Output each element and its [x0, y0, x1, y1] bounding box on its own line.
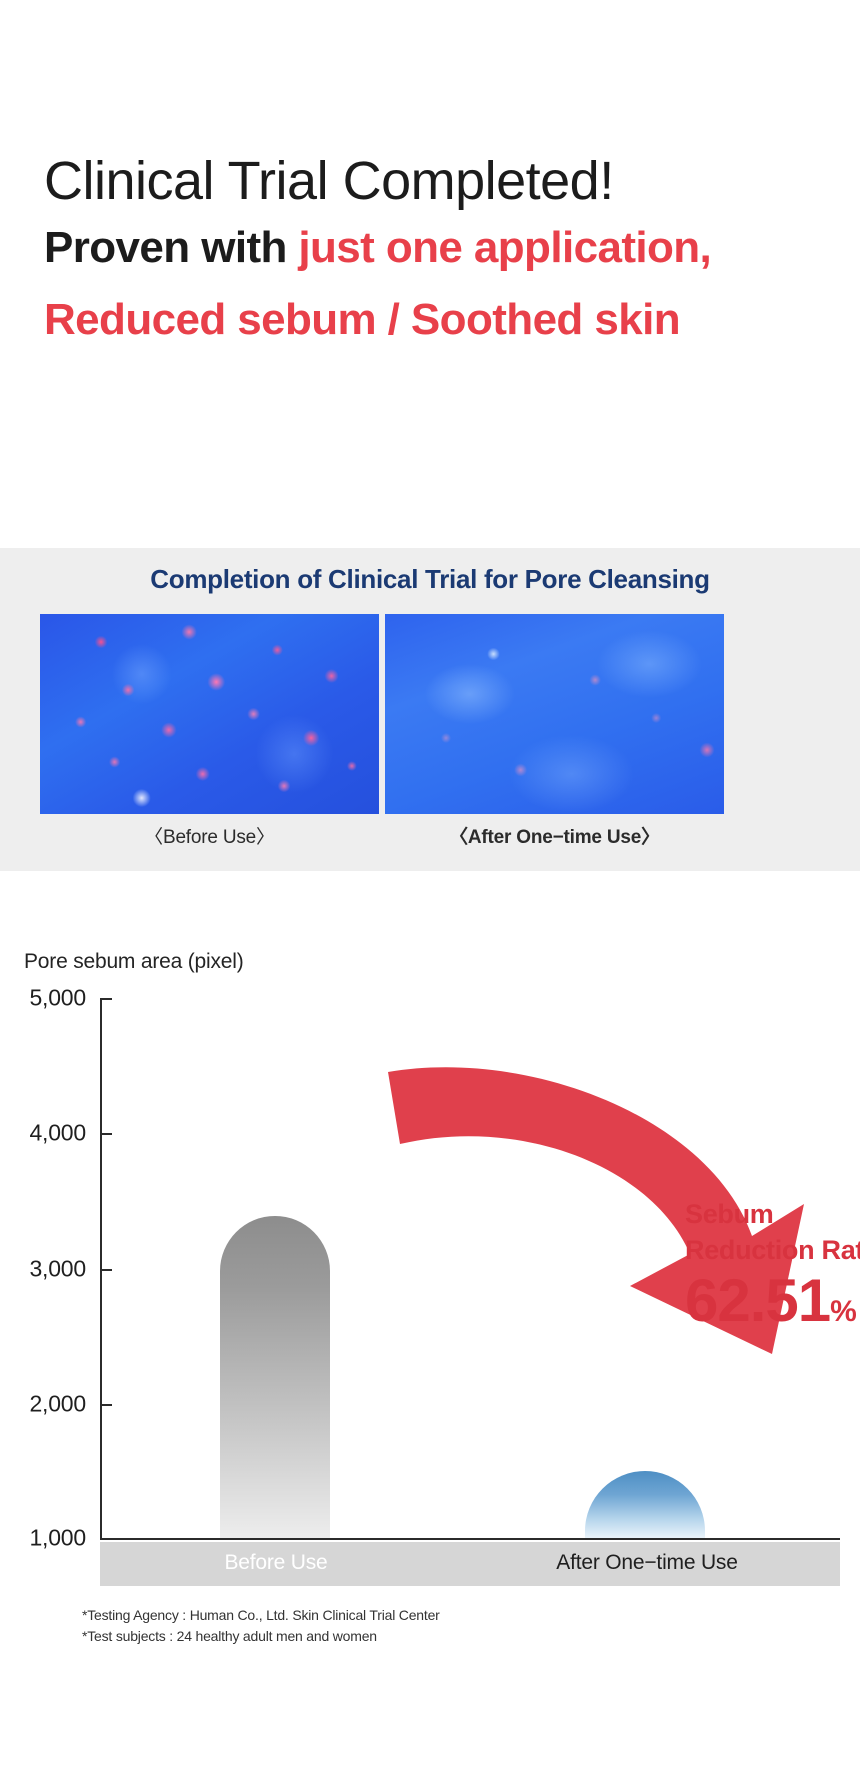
chart-y-tick-mark	[100, 1538, 112, 1540]
chart-category-label-after: After One−time Use	[482, 1551, 812, 1575]
chart-x-axis-line	[100, 1538, 840, 1540]
chart-footnotes: *Testing Agency : Human Co., Ltd. Skin C…	[82, 1605, 440, 1647]
sebum-reduction-callout: Sebum Reduction Rate 62.51%	[685, 1196, 860, 1348]
chart-y-axis-title: Pore sebum area (pixel)	[24, 950, 244, 974]
chart-bar-before-use	[220, 1216, 330, 1538]
chart-y-tick-mark	[100, 998, 112, 1000]
callout-value-number: 62.51	[685, 1267, 830, 1334]
pore-photo-caption-row: 〈Before Use〉 〈After One−time Use〉	[40, 822, 724, 856]
chart-y-tick-mark	[100, 1133, 112, 1135]
headline-line-1: Clinical Trial Completed!	[44, 150, 824, 212]
before-use-photo-caption: 〈Before Use〉	[40, 822, 379, 856]
callout-value-row: 62.51%	[685, 1270, 860, 1348]
chart-y-tick-label: 1,000	[29, 1525, 86, 1552]
chart-plot-area: 5,000 4,000 3,000 2,000 1,000 Sebum Redu…	[100, 998, 840, 1540]
chart-y-tick-mark	[100, 1404, 112, 1406]
chart-y-tick-mark	[100, 1269, 112, 1271]
pore-photo-row	[40, 614, 724, 814]
sebum-reduction-chart: Pore sebum area (pixel) 5,000 4,000 3,00…	[0, 940, 860, 1680]
chart-y-tick-label: 2,000	[29, 1391, 86, 1418]
headline-block: Clinical Trial Completed! Proven with ju…	[44, 150, 824, 356]
footnote-test-subjects: *Test subjects : 24 healthy adult men an…	[82, 1626, 440, 1647]
chart-y-tick-label: 4,000	[29, 1120, 86, 1147]
chart-bar-after-one-time-use	[585, 1471, 705, 1538]
chart-category-label-before: Before Use	[196, 1551, 356, 1575]
chart-y-tick-label: 5,000	[29, 985, 86, 1012]
headline-line-2-plain: Proven with	[44, 223, 298, 272]
callout-line-1: Sebum	[685, 1196, 860, 1232]
chart-y-tick-label: 3,000	[29, 1256, 86, 1283]
headline-line-2-accent: just one application,	[298, 223, 711, 272]
clinical-trial-panel: Completion of Clinical Trial for Pore Cl…	[0, 548, 860, 871]
headline-line-2: Proven with just one application,	[44, 212, 824, 284]
callout-line-2: Reduction Rate	[685, 1232, 860, 1268]
callout-value-unit: %	[830, 1295, 857, 1328]
headline-line-3: Reduced sebum / Soothed skin	[44, 284, 824, 356]
after-use-photo-caption: 〈After One−time Use〉	[385, 822, 724, 856]
footnote-testing-agency: *Testing Agency : Human Co., Ltd. Skin C…	[82, 1605, 440, 1626]
clinical-trial-title: Completion of Clinical Trial for Pore Cl…	[0, 564, 860, 595]
before-use-pore-photo	[40, 614, 379, 814]
chart-category-band: Before Use After One−time Use	[100, 1542, 840, 1586]
after-use-pore-photo	[385, 614, 724, 814]
